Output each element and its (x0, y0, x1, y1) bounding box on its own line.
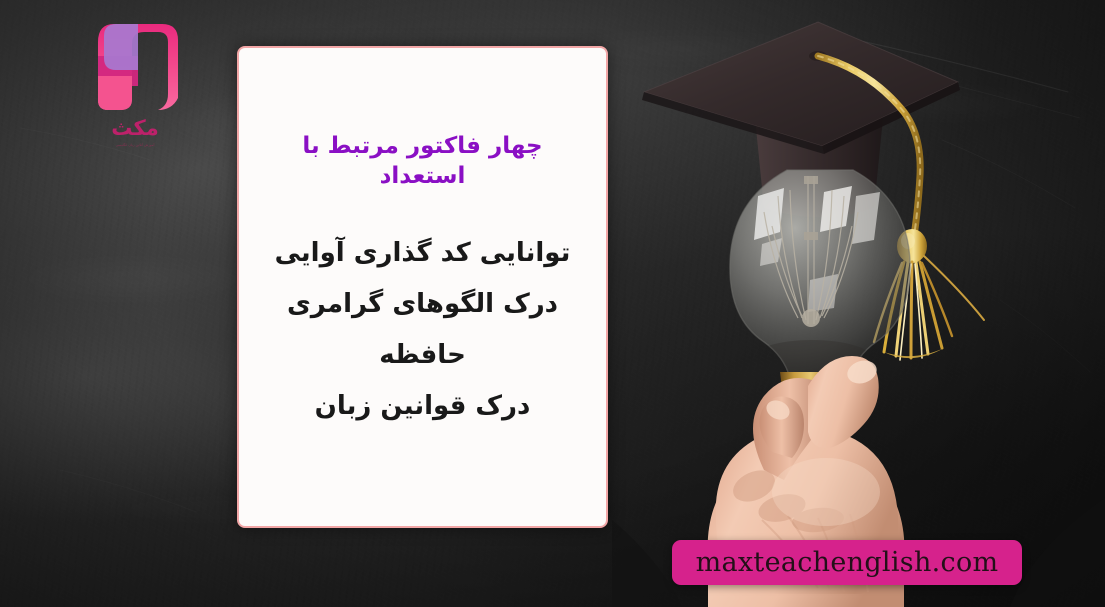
logo-wordmark: مکث (92, 118, 178, 139)
logo-tagline: آموزش آنلاین زبان انگلیسی (90, 144, 180, 148)
logo-mark-icon (86, 14, 180, 114)
list-item: درک الگوهای گرامری (263, 291, 582, 317)
list-item: توانایی کد گذاری آوایی (263, 240, 582, 266)
website-url-badge[interactable]: maxteachenglish.com (672, 540, 1022, 585)
list-item: درک قوانین زبان (263, 393, 582, 419)
website-url-text: maxteachenglish.com (696, 547, 999, 578)
brand-logo: مکث آموزش آنلاین زبان انگلیسی (86, 14, 180, 164)
photo-composition (612, 0, 1105, 607)
factor-list: توانایی کد گذاری آوایی درک الگوهای گرامر… (263, 240, 582, 419)
card-title: چهار فاکتور مرتبط با استعداد (259, 132, 586, 192)
list-item: حافظه (263, 342, 582, 368)
poster-canvas: مکث آموزش آنلاین زبان انگلیسی چهار فاکتو… (0, 0, 1105, 607)
content-card: چهار فاکتور مرتبط با استعداد توانایی کد … (237, 46, 608, 528)
